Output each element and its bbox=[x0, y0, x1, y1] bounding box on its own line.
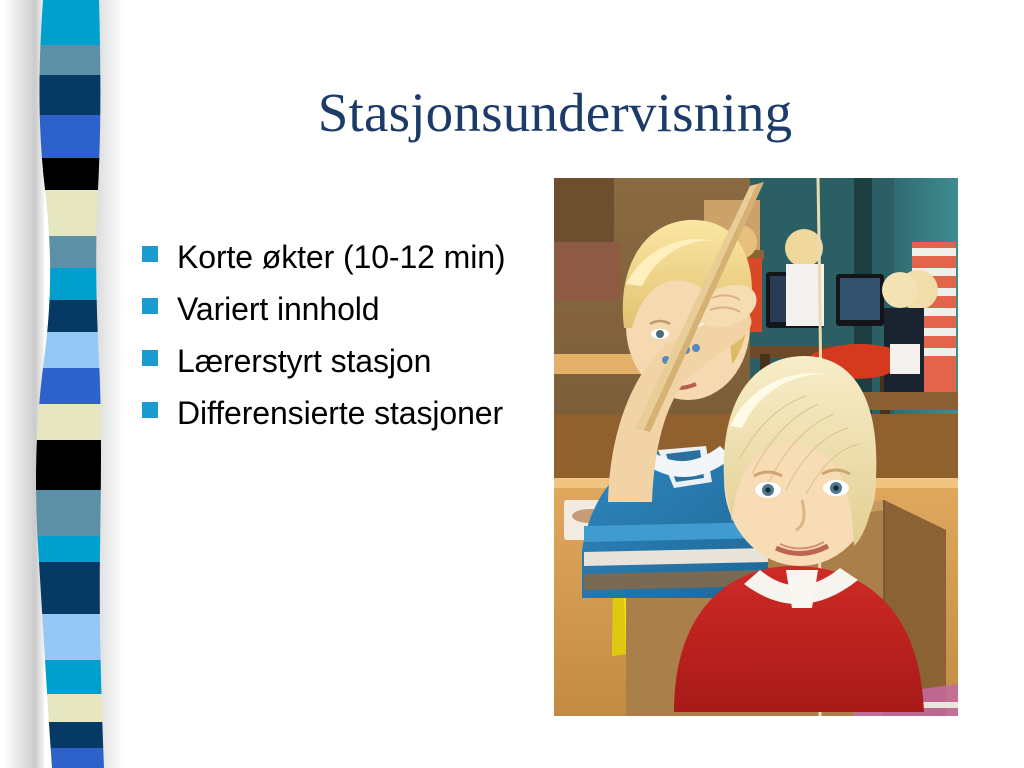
square-bullet-icon bbox=[142, 402, 158, 418]
ribbon-band bbox=[20, 722, 120, 748]
ribbon-band bbox=[20, 0, 120, 45]
ribbon-band bbox=[20, 536, 120, 562]
page-title: Stasjonsundervisning bbox=[160, 84, 950, 142]
classroom-children-photo bbox=[554, 178, 958, 716]
ribbon-bands bbox=[0, 0, 130, 768]
square-bullet-icon bbox=[142, 298, 158, 314]
ribbon-band bbox=[20, 660, 120, 694]
ribbon-band bbox=[20, 190, 120, 236]
bullet-list: Korte økter (10-12 min) Variert innhold … bbox=[142, 232, 532, 440]
list-item-label: Variert innhold bbox=[177, 284, 532, 335]
ribbon-band bbox=[20, 490, 120, 536]
square-bullet-icon bbox=[142, 350, 158, 366]
decorative-color-ribbon bbox=[0, 0, 130, 768]
slide: Stasjonsundervisning Korte økter (10-12 … bbox=[0, 0, 1024, 768]
photo-artwork bbox=[554, 178, 958, 716]
ribbon-band bbox=[20, 694, 120, 722]
ribbon-band bbox=[20, 45, 120, 75]
list-item: Korte økter (10-12 min) bbox=[142, 232, 532, 283]
list-item-label: Korte økter (10-12 min) bbox=[177, 232, 532, 283]
ribbon-band bbox=[20, 158, 120, 190]
ribbon-band bbox=[20, 748, 120, 768]
ribbon-band bbox=[20, 236, 120, 268]
ribbon-band bbox=[20, 75, 120, 115]
list-item-label: Lærerstyrt stasjon bbox=[177, 336, 532, 387]
list-item: Lærerstyrt stasjon bbox=[142, 336, 532, 387]
ribbon-band bbox=[20, 614, 120, 660]
ribbon-band bbox=[20, 440, 120, 490]
ribbon-band bbox=[20, 404, 120, 440]
ribbon-band bbox=[20, 562, 120, 614]
ribbon-band bbox=[20, 300, 120, 332]
list-item: Differensierte stasjoner bbox=[142, 388, 532, 439]
ribbon-band bbox=[20, 268, 120, 300]
ribbon-band bbox=[20, 368, 120, 404]
square-bullet-icon bbox=[142, 246, 158, 262]
ribbon-band bbox=[20, 332, 120, 368]
list-item-label: Differensierte stasjoner bbox=[177, 388, 532, 439]
list-item: Variert innhold bbox=[142, 284, 532, 335]
ribbon-band bbox=[20, 115, 120, 158]
